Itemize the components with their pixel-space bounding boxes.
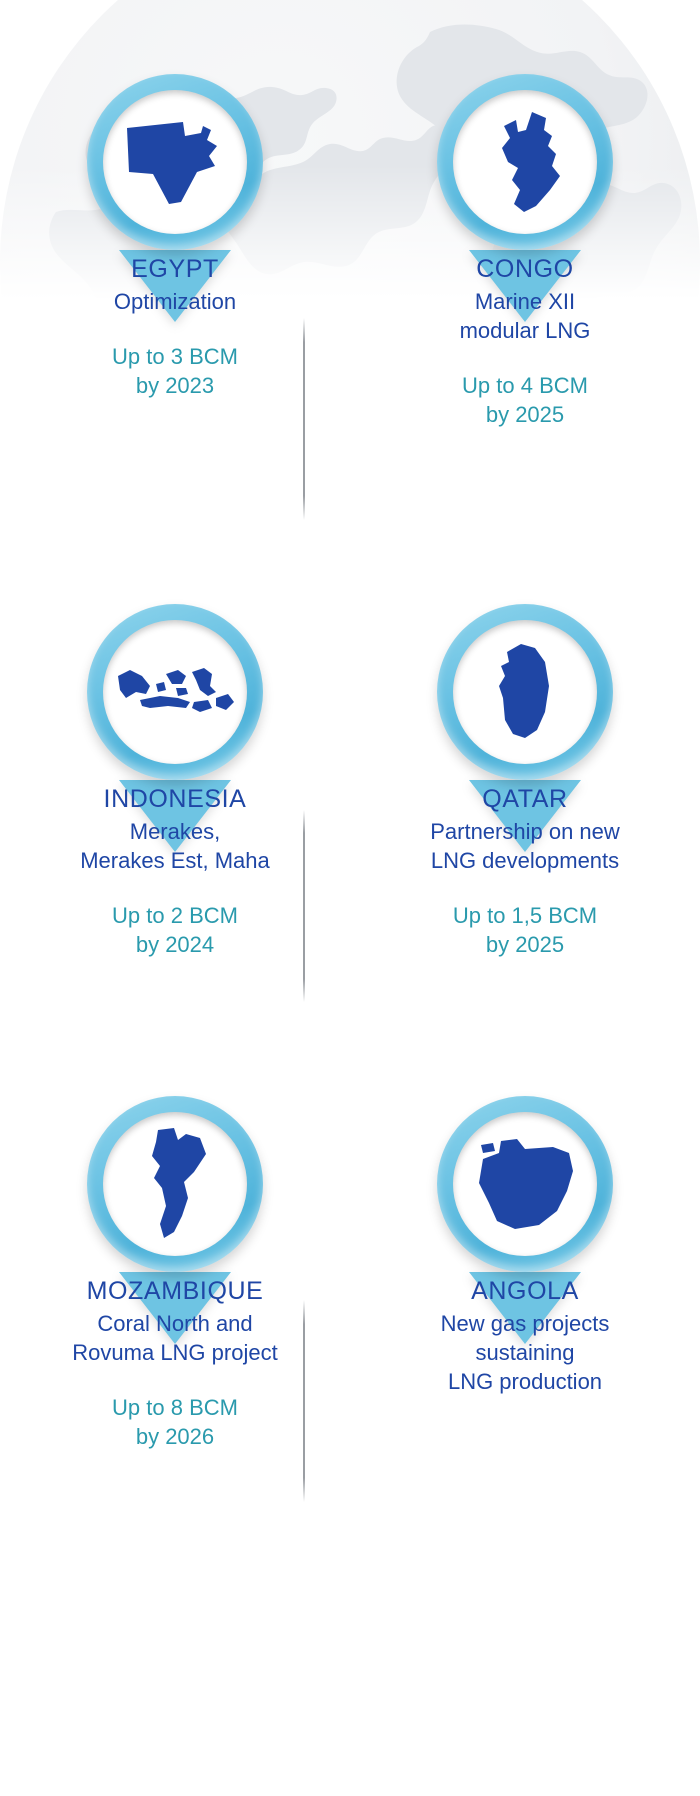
text-block-egypt: EGYPT Optimization Up to 3 BCM by 2023 (0, 252, 350, 400)
country-description-line: Rovuma LNG project (0, 1338, 350, 1367)
country-description-line: modular LNG (350, 316, 700, 345)
pin-face (103, 620, 247, 764)
map-pin-congo[interactable] (350, 0, 700, 252)
country-grid: EGYPT Optimization Up to 3 BCM by 2023 C… (0, 0, 700, 1796)
card-congo[interactable]: CONGO Marine XII modular LNG Up to 4 BCM… (350, 0, 700, 252)
text-block-qatar: QATAR Partnership on new LNG development… (350, 782, 700, 959)
capacity-year: by 2026 (0, 1422, 350, 1451)
card-angola[interactable]: ANGOLA New gas projects sustaining LNG p… (350, 1022, 700, 1274)
capacity-value: Up to 8 BCM (0, 1393, 350, 1422)
congo-map-icon (486, 110, 564, 214)
qatar-map-icon (497, 642, 553, 742)
pin-face (453, 90, 597, 234)
capacity-year: by 2025 (350, 930, 700, 959)
capacity-value: Up to 3 BCM (0, 342, 350, 371)
country-name: ANGOLA (350, 1274, 700, 1308)
card-egypt[interactable]: EGYPT Optimization Up to 3 BCM by 2023 (0, 0, 350, 252)
country-description-line: Optimization (0, 287, 350, 316)
capacity-value: Up to 4 BCM (350, 371, 700, 400)
country-name: CONGO (350, 252, 700, 286)
map-pin-mozambique[interactable] (0, 1022, 350, 1274)
country-description-line: Merakes Est, Maha (0, 846, 350, 875)
capacity-year: by 2023 (0, 371, 350, 400)
card-indonesia[interactable]: INDONESIA Merakes, Merakes Est, Maha Up … (0, 530, 350, 782)
pin-face (103, 90, 247, 234)
capacity-block: Up to 3 BCM by 2023 (0, 342, 350, 400)
country-name: QATAR (350, 782, 700, 816)
egypt-map-icon (123, 116, 227, 208)
country-name: MOZAMBIQUE (0, 1274, 350, 1308)
map-pin-egypt[interactable] (0, 0, 350, 252)
capacity-block: Up to 4 BCM by 2025 (350, 371, 700, 429)
capacity-block: Up to 8 BCM by 2026 (0, 1393, 350, 1451)
country-name: EGYPT (0, 252, 350, 286)
country-description-line: Partnership on new (350, 817, 700, 846)
text-block-congo: CONGO Marine XII modular LNG Up to 4 BCM… (350, 252, 700, 429)
pin-face (453, 1112, 597, 1256)
country-description-line: New gas projects (350, 1309, 700, 1338)
country-name: INDONESIA (0, 782, 350, 816)
country-description-line: sustaining (350, 1338, 700, 1367)
capacity-value: Up to 2 BCM (0, 901, 350, 930)
mozambique-map-icon (140, 1128, 210, 1240)
map-pin-indonesia[interactable] (0, 530, 350, 782)
capacity-block: Up to 1,5 BCM by 2025 (350, 901, 700, 959)
country-description-line: LNG developments (350, 846, 700, 875)
capacity-year: by 2025 (350, 400, 700, 429)
card-mozambique[interactable]: MOZAMBIQUE Coral North and Rovuma LNG pr… (0, 1022, 350, 1274)
map-pin-angola[interactable] (350, 1022, 700, 1274)
country-description-line: Merakes, (0, 817, 350, 846)
text-block-mozambique: MOZAMBIQUE Coral North and Rovuma LNG pr… (0, 1274, 350, 1451)
country-description-line: Coral North and (0, 1309, 350, 1338)
angola-map-icon (473, 1137, 577, 1231)
capacity-block: Up to 2 BCM by 2024 (0, 901, 350, 959)
capacity-value: Up to 1,5 BCM (350, 901, 700, 930)
indonesia-map-icon (116, 662, 234, 722)
country-description-line: LNG production (350, 1367, 700, 1396)
country-description-line: Marine XII (350, 287, 700, 316)
text-block-angola: ANGOLA New gas projects sustaining LNG p… (350, 1274, 700, 1396)
pin-face (103, 1112, 247, 1256)
capacity-year: by 2024 (0, 930, 350, 959)
map-pin-qatar[interactable] (350, 530, 700, 782)
pin-face (453, 620, 597, 764)
text-block-indonesia: INDONESIA Merakes, Merakes Est, Maha Up … (0, 782, 350, 959)
card-qatar[interactable]: QATAR Partnership on new LNG development… (350, 530, 700, 782)
